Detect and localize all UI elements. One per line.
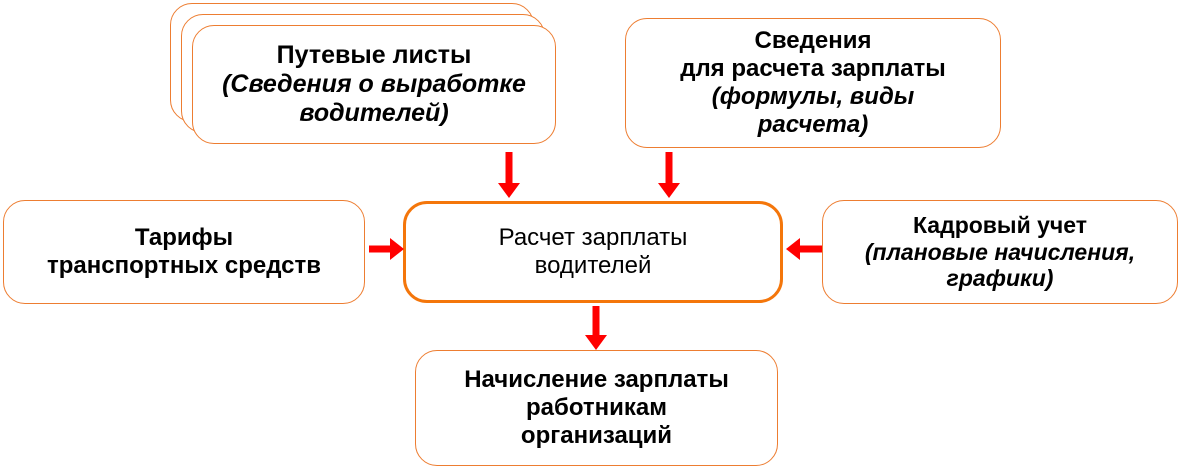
- hr-accounting-line-3: графики): [831, 265, 1169, 292]
- salary-accrual-line-2: работникам: [424, 394, 769, 422]
- payroll-info-line-2: для расчета зарплаты: [634, 55, 992, 83]
- waybills-node-text: Путевые листы (Сведения о выработке води…: [193, 41, 555, 128]
- hr-accounting-line-1: Кадровый учет: [831, 212, 1169, 239]
- driver-payroll-line-2: водителей: [414, 252, 772, 280]
- salary-accrual-line-1: Начисление зарплаты: [424, 366, 769, 394]
- arrow-tariffs-to-calc: [369, 236, 405, 262]
- driver-payroll-calculation-node[interactable]: Расчет зарплаты водителей: [403, 201, 783, 303]
- waybills-node[interactable]: Путевые листы (Сведения о выработке води…: [192, 25, 556, 144]
- salary-accrual-line-3: организаций: [424, 422, 769, 450]
- hr-accounting-node[interactable]: Кадровый учет (плановые начисления, граф…: [822, 200, 1178, 304]
- vehicle-tariffs-line-1: Тарифы: [12, 224, 356, 252]
- vehicle-tariffs-node[interactable]: Тарифы транспортных средств: [3, 200, 365, 304]
- salary-accrual-node[interactable]: Начисление зарплаты работникам организац…: [415, 350, 778, 466]
- hr-accounting-node-text: Кадровый учет (плановые начисления, граф…: [823, 212, 1177, 292]
- arrow-calc-to-accrual: [583, 306, 609, 352]
- diagram-canvas: Путевые листы (Сведения о выработке води…: [0, 0, 1182, 473]
- payroll-info-node-text: Сведения для расчета зарплаты (формулы, …: [626, 27, 1000, 138]
- hr-accounting-line-2: (плановые начисления,: [831, 239, 1169, 266]
- waybills-line-1: Путевые листы: [201, 41, 547, 70]
- arrow-hr-to-calc: [784, 236, 822, 262]
- vehicle-tariffs-line-2: транспортных средств: [12, 252, 356, 280]
- waybills-line-2: (Сведения о выработке: [201, 70, 547, 99]
- payroll-info-line-4: расчета): [634, 111, 992, 139]
- arrow-waybills-to-calc: [496, 152, 522, 200]
- payroll-info-line-3: (формулы, виды: [634, 83, 992, 111]
- payroll-info-node[interactable]: Сведения для расчета зарплаты (формулы, …: [625, 18, 1001, 148]
- arrow-payroll-info-to-calc: [656, 152, 682, 200]
- driver-payroll-line-1: Расчет зарплаты: [414, 224, 772, 252]
- salary-accrual-node-text: Начисление зарплаты работникам организац…: [416, 366, 777, 449]
- waybills-line-3: водителей): [201, 99, 547, 128]
- vehicle-tariffs-node-text: Тарифы транспортных средств: [4, 224, 364, 280]
- driver-payroll-calculation-node-text: Расчет зарплаты водителей: [406, 224, 780, 280]
- payroll-info-line-1: Сведения: [634, 27, 992, 55]
